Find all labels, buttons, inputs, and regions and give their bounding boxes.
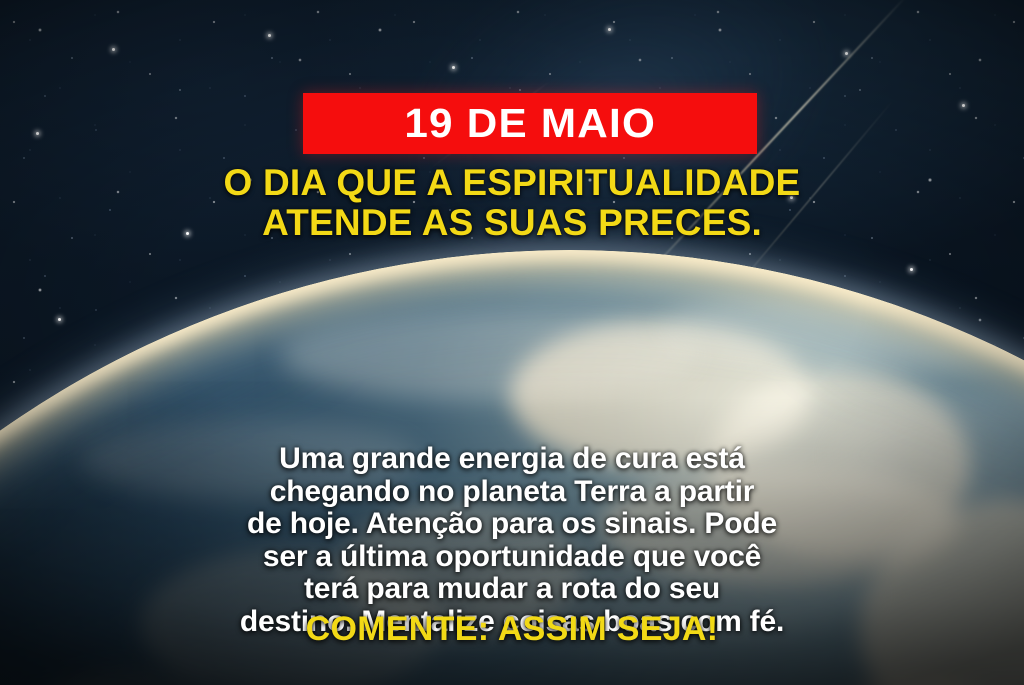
date-banner-text: 19 DE MAIO <box>404 103 656 144</box>
date-banner: 19 DE MAIO <box>303 93 757 154</box>
bright-star <box>36 132 39 135</box>
call-to-action-text: COMENTE: ASSIM SEJA! <box>0 612 1024 646</box>
bright-star <box>112 48 115 51</box>
bright-star <box>962 104 965 107</box>
bright-star <box>910 268 913 271</box>
body-copy-line-2: chegando no planeta Terra a partir <box>0 476 1024 509</box>
bright-star <box>845 52 848 55</box>
bright-star <box>452 66 455 69</box>
headline-line-1: O DIA QUE A ESPIRITUALIDADE <box>0 163 1024 203</box>
bright-star <box>608 28 611 31</box>
body-copy-line-1: Uma grande energia de cura está <box>0 443 1024 476</box>
bright-star <box>268 34 271 37</box>
headline-line-2: ATENDE AS SUAS PRECES. <box>0 203 1024 243</box>
body-copy-line-3: de hoje. Atenção para os sinais. Pode <box>0 508 1024 541</box>
body-copy-line-4: ser a última oportunidade que você <box>0 541 1024 574</box>
body-copy: Uma grande energia de cura está chegando… <box>0 443 1024 638</box>
bright-star <box>58 318 61 321</box>
body-copy-line-5: terá para mudar a rota do seu <box>0 573 1024 606</box>
poster-canvas: 19 DE MAIO O DIA QUE A ESPIRITUALIDADE A… <box>0 0 1024 685</box>
headline: O DIA QUE A ESPIRITUALIDADE ATENDE AS SU… <box>0 163 1024 243</box>
